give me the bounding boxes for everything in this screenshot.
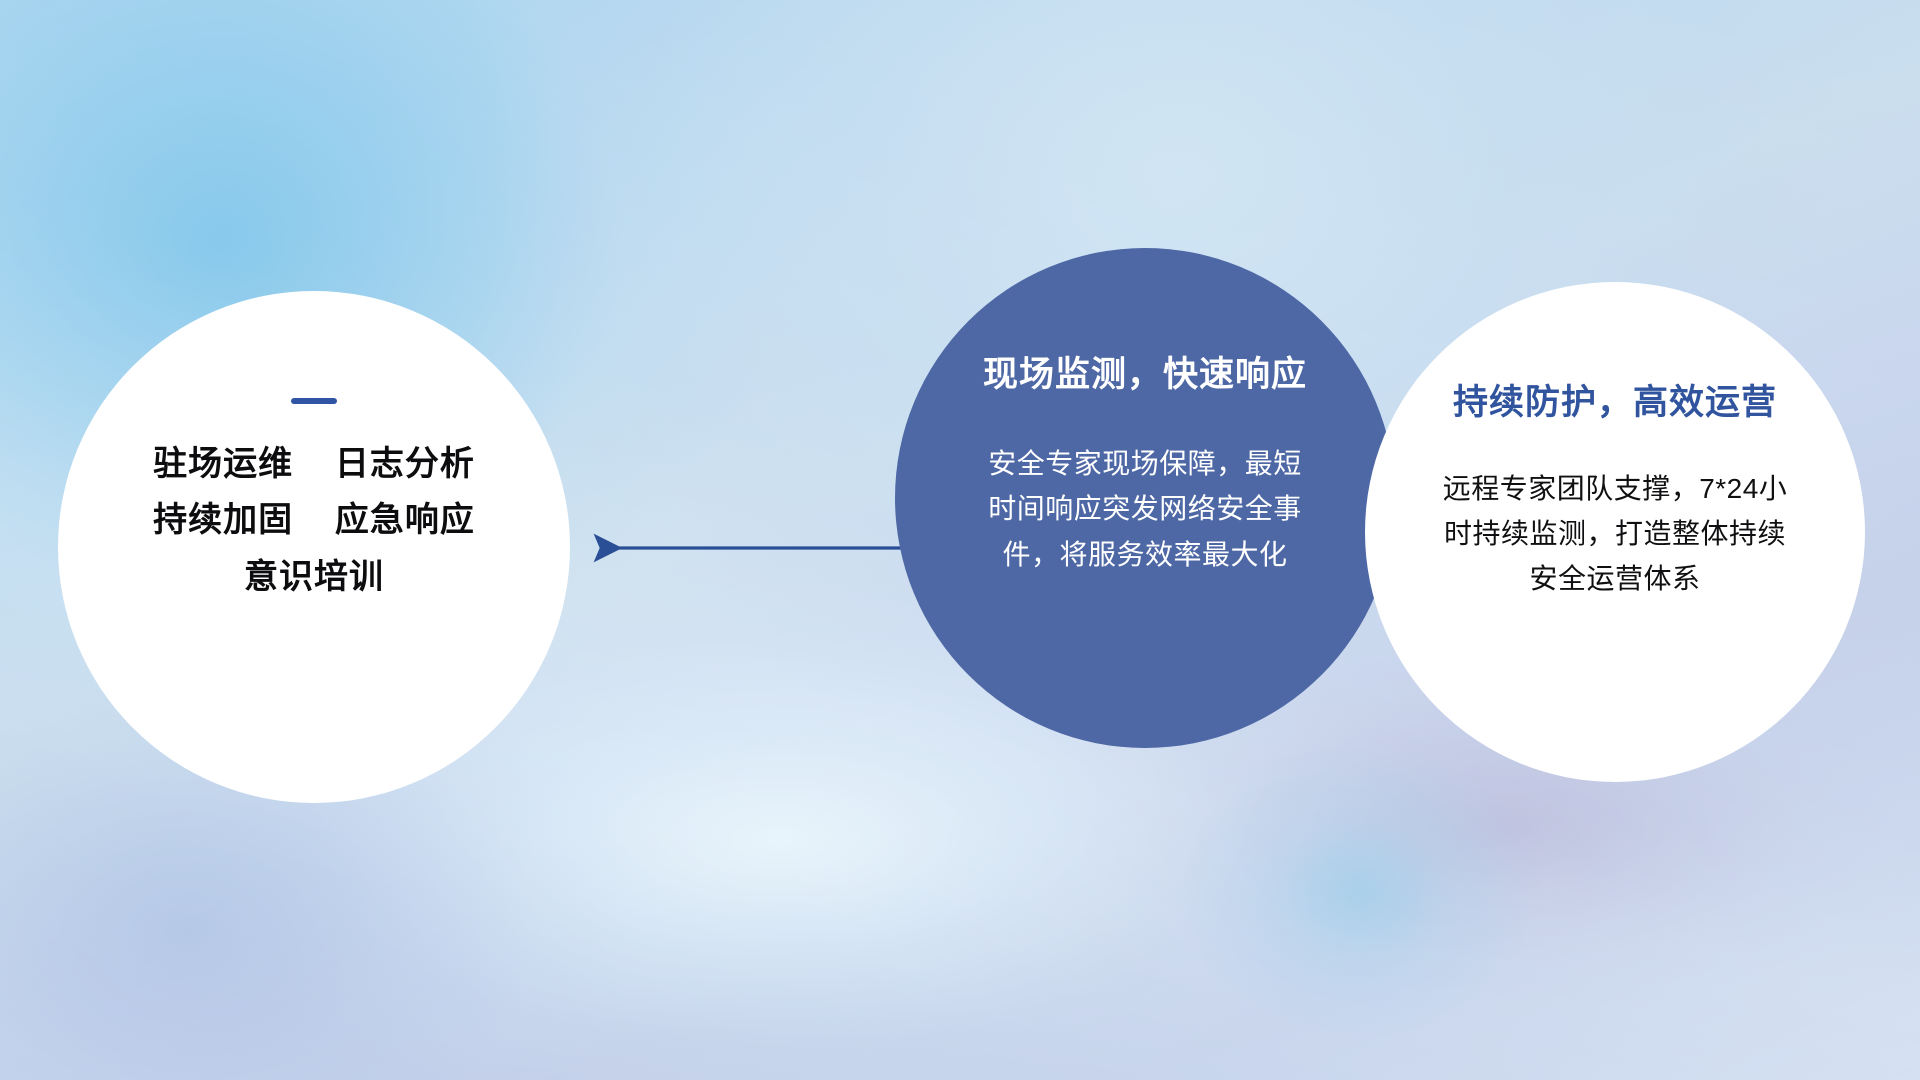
continuous-protection-title: 持续防护，高效运营 [1453, 374, 1777, 425]
divider-dash [291, 398, 337, 404]
capability-tag-row: 驻场运维 日志分析 [153, 436, 475, 492]
onsite-monitoring-circle[interactable]: 现场监测，快速响应 安全专家现场保障，最短时间响应突发网络安全事件，将服务效率最… [895, 248, 1395, 748]
service-capability-circle[interactable]: 驻场运维 日志分析 持续加固 应急响应 意识培训 [58, 291, 570, 803]
capability-tag-row: 意识培训 [153, 549, 475, 605]
onsite-monitoring-body: 安全专家现场保障，最短时间响应突发网络安全事件，将服务效率最大化 [980, 441, 1310, 577]
flow-arrow-icon [580, 520, 920, 576]
onsite-monitoring-title: 现场监测，快速响应 [983, 346, 1307, 397]
continuous-protection-circle[interactable]: 持续防护，高效运营 远程专家团队支撑，7*24小时持续监测，打造整体持续安全运营… [1365, 282, 1865, 782]
capability-tag-list: 驻场运维 日志分析 持续加固 应急响应 意识培训 [153, 436, 475, 605]
continuous-protection-body: 远程专家团队支撑，7*24小时持续监测，打造整体持续安全运营体系 [1430, 467, 1800, 601]
slide-canvas: 驻场运维 日志分析 持续加固 应急响应 意识培训 现场监测，快速响应 安全专家现… [0, 0, 1920, 1080]
capability-tag-row: 持续加固 应急响应 [153, 492, 475, 548]
